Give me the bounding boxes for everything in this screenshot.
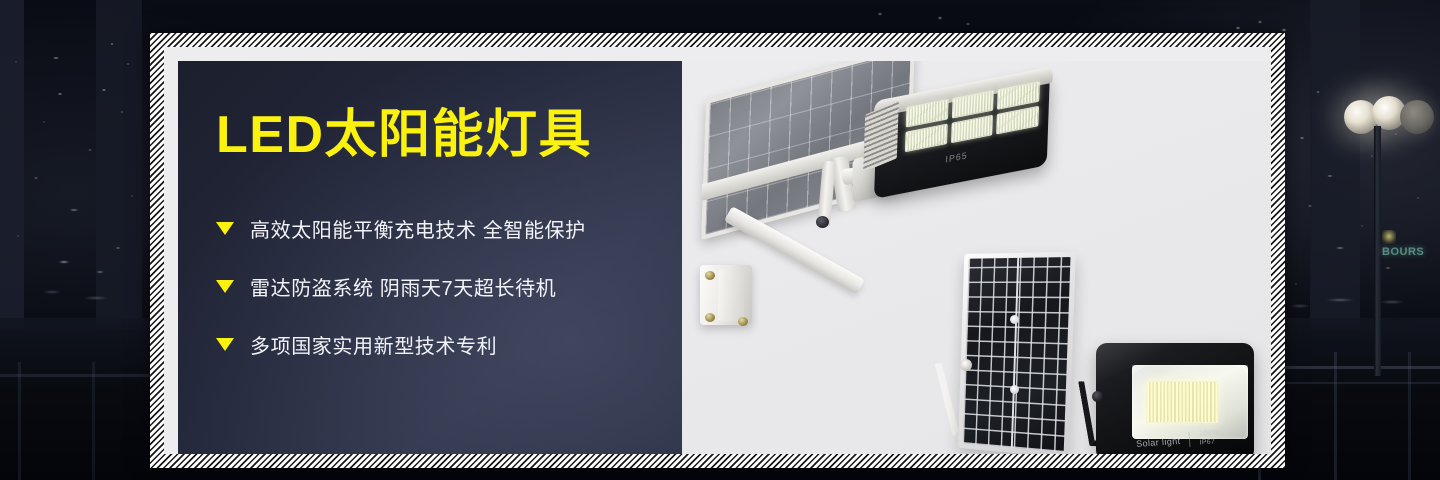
feature-bullet-list: 高效太阳能平衡充电技术 全智能保护 雷达防盗系统 阴雨天7天超长待机 多项国家实…	[216, 213, 656, 387]
flood-light-spec-text: 100W IP67	[1199, 429, 1220, 448]
background-street-lamp: BOURS	[1330, 78, 1440, 378]
bracket-bolt-icon	[705, 271, 715, 280]
flood-light-brand-text: Solar light	[1136, 435, 1181, 448]
solar-light-banner: BOURS LED太阳能灯具 高效太阳能平衡充电技术 全智能保护 雷达防盗系统 …	[0, 0, 1440, 480]
bracket-bolt-icon	[738, 317, 748, 326]
list-item: 高效太阳能平衡充电技术 全智能保护	[216, 213, 656, 243]
flood-light-housing: Solar light 100W IP67	[1096, 343, 1254, 454]
solar-panel-frame	[958, 252, 1076, 454]
flood-light-wattage: 100W	[1199, 429, 1219, 437]
feature-text: 雷达防盗系统 阴雨天7天超长待机	[250, 272, 556, 301]
flood-light-cob-chip	[1146, 381, 1218, 423]
solar-panel-cells	[963, 257, 1071, 452]
bracket-bolt-icon	[705, 313, 715, 322]
flood-light-pivot-knob	[1092, 391, 1103, 402]
product-showcase-panel: IP65	[682, 61, 1271, 454]
label-divider	[1189, 432, 1191, 447]
solar-flood-light-image: Solar light 100W IP67	[1082, 337, 1264, 454]
lamp-pole	[1374, 126, 1381, 376]
page-title: LED太阳能灯具	[216, 109, 592, 161]
solar-panel-busbar-node	[1010, 315, 1019, 324]
flood-light-lens	[1132, 365, 1248, 439]
list-item: 雷达防盗系统 阴雨天7天超长待机	[216, 271, 656, 301]
solar-panel-stand-hinge	[960, 359, 972, 371]
flood-light-ip-rating: IP67	[1199, 438, 1215, 446]
neon-sign-text: BOURS	[1382, 246, 1424, 258]
frame-inner-area: LED太阳能灯具 高效太阳能平衡充电技术 全智能保护 雷达防盗系统 阴雨天7天超…	[164, 47, 1271, 454]
list-item: 多项国家实用新型技术专利	[216, 329, 656, 359]
feature-text: 高效太阳能平衡充电技术 全智能保护	[250, 214, 586, 243]
neon-crest-icon	[1382, 230, 1396, 244]
lamp-globe-icon	[1400, 100, 1434, 134]
background-railing-left	[0, 362, 152, 480]
headline-panel: LED太阳能灯具 高效太阳能平衡充电技术 全智能保护 雷达防盗系统 阴雨天7天超…	[178, 61, 682, 454]
solar-panel-image	[944, 253, 1084, 454]
feature-text: 多项国家实用新型技术专利	[250, 330, 497, 359]
triangle-down-icon	[216, 222, 234, 235]
triangle-down-icon	[216, 280, 234, 293]
solar-panel-busbar-node	[1010, 385, 1019, 394]
street-light-radar-sensor	[816, 216, 829, 228]
hatched-frame-border: LED太阳能灯具 高效太阳能平衡充电技术 全智能保护 雷达防盗系统 阴雨天7天超…	[150, 33, 1285, 468]
triangle-down-icon	[216, 338, 234, 351]
